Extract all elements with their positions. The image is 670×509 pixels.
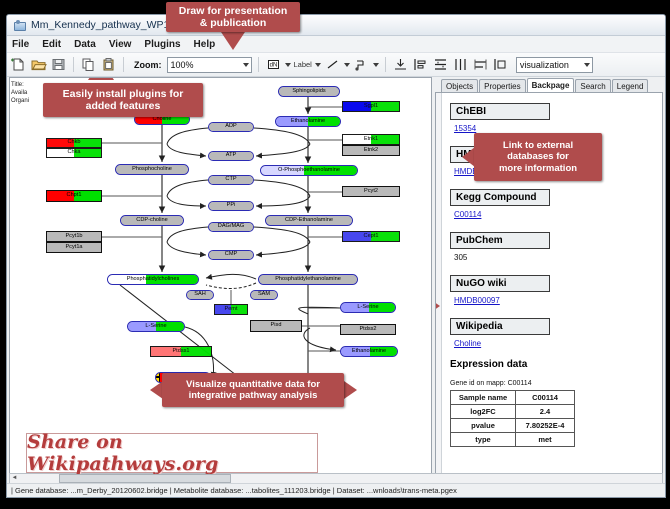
backpage-content: ChEBI 15354 HMDB HMDB00097 Kegg Compound… xyxy=(435,92,663,475)
node-label: CMP xyxy=(225,252,237,258)
menu-data[interactable]: Data xyxy=(72,38,98,51)
node-label: Chkb xyxy=(67,140,80,146)
menubar: File Edit Data View Plugins Help xyxy=(7,36,665,53)
paste-icon[interactable] xyxy=(100,56,117,73)
pathway-node-atp[interactable]: ATP xyxy=(208,151,254,161)
db-header-nugo: NuGO wiki xyxy=(450,275,550,292)
pathway-node-l-serine-left[interactable]: L-Serine xyxy=(127,321,185,332)
node-label: CTP xyxy=(225,177,236,183)
node-label: Pcyt2 xyxy=(364,189,378,195)
table-row: type met xyxy=(451,433,575,447)
pathway-node-pemt[interactable]: Pemt xyxy=(214,304,248,315)
new-file-icon[interactable] xyxy=(10,56,27,73)
node-label: CDP-Ethanolamine xyxy=(285,218,333,224)
expression-table: Sample name C00114 log2FC 2.4 pvalue 7.8… xyxy=(450,390,575,447)
anchor-icon[interactable] xyxy=(353,56,370,73)
callout-plugins-text: Easily install plugins for added feature… xyxy=(63,88,184,113)
pathway-canvas[interactable]: Title: Availa Organi xyxy=(9,77,432,475)
share-banner: Share on Wikipathways.org xyxy=(26,433,318,473)
pathway-node-phosphatidylcholines[interactable]: Phosphatidylcholines xyxy=(107,274,199,285)
open-folder-icon[interactable] xyxy=(30,56,47,73)
node-label: O-Phosphoethanolamine xyxy=(278,168,340,174)
pathway-node-l-serine-right[interactable]: L-Serine xyxy=(340,302,396,313)
callout-external-links: Link to external databases for more info… xyxy=(474,133,602,181)
db-link-chebi[interactable]: 15354 xyxy=(454,124,662,133)
zoom-label: Zoom: xyxy=(134,60,162,70)
line-dropdown-icon[interactable] xyxy=(344,63,350,67)
node-label: L-Serine xyxy=(357,305,378,311)
line-icon[interactable] xyxy=(324,56,341,73)
pathway-node-ptdss1[interactable]: Ptdss1 xyxy=(150,346,212,357)
toolbar-separator-1 xyxy=(73,57,74,72)
toolbar-separator-4 xyxy=(385,57,386,72)
pathway-node-cept1[interactable]: Cept1 xyxy=(342,231,400,242)
node-label: DAG/MAG xyxy=(218,224,244,230)
expr-val-pvalue: 7.80252E-4 xyxy=(516,419,575,433)
table-row: log2FC 2.4 xyxy=(451,405,575,419)
pathway-node-o-phosphoethanolamine[interactable]: O-Phosphoethanolamine xyxy=(260,165,358,176)
expr-val-type: met xyxy=(516,433,575,447)
node-label: Pisd xyxy=(271,323,282,329)
callout-draw: Draw for presentation & publication xyxy=(166,2,300,32)
toolbar-separator-3 xyxy=(258,57,259,72)
pathway-node-adp[interactable]: ADP xyxy=(208,122,254,132)
pathway-node-ptdss2[interactable]: Ptdss2 xyxy=(340,324,396,335)
node-label: Pemt xyxy=(224,307,237,313)
expr-key-type: type xyxy=(451,433,516,447)
node-label: ADP xyxy=(225,124,237,130)
align-bottom-icon[interactable] xyxy=(392,56,409,73)
panel-left-gutter xyxy=(436,93,442,474)
node-label: Sgpl1 xyxy=(364,104,378,110)
visualization-value: visualization xyxy=(520,60,569,70)
expr-key-log2fc: log2FC xyxy=(451,405,516,419)
node-label: Phosphocholine xyxy=(132,167,172,173)
visualization-combobox[interactable]: visualization xyxy=(516,57,593,73)
pathway-node-pisd[interactable]: Pisd xyxy=(250,320,302,332)
pathway-node-ethanolamine-right[interactable]: Ethanolamine xyxy=(340,346,398,357)
side-panel-tabs: Objects Properties Backpage Search Legen… xyxy=(435,77,663,92)
tab-properties[interactable]: Properties xyxy=(479,79,525,92)
menu-view[interactable]: View xyxy=(107,38,134,51)
pathway-node-etnk2[interactable]: Etnk2 xyxy=(342,145,400,156)
stack-icon[interactable] xyxy=(492,56,509,73)
db-header-chebi: ChEBI xyxy=(450,103,550,120)
node-label: Chpt1 xyxy=(67,193,82,199)
pathway-node-etnk1[interactable]: Etnk1 xyxy=(342,134,400,145)
table-row: pvalue 7.80252E-4 xyxy=(451,419,575,433)
menu-edit[interactable]: Edit xyxy=(40,38,63,51)
pathvisio-window: Mm_Kennedy_pathway_WP1771_45176.gpml Fil… xyxy=(6,14,666,498)
pathway-node-ppi[interactable]: PPi xyxy=(208,201,254,211)
pathway-node-sgpl1[interactable]: Sgpl1 xyxy=(342,101,400,112)
db-link-kegg[interactable]: C00114 xyxy=(454,210,662,219)
node-label: Pcyt1a xyxy=(65,245,82,251)
callout-draw-arrow xyxy=(221,32,245,50)
node-label: SAM xyxy=(258,292,270,298)
workarea: Title: Availa Organi xyxy=(7,75,665,475)
expr-val-sample-name: C00114 xyxy=(516,391,575,405)
node-label: Cept1 xyxy=(364,234,379,240)
node-label: PPi xyxy=(227,203,236,209)
pathway-node-cdp-ethanolamine[interactable]: CDP-Ethanolamine xyxy=(265,215,353,226)
callout-external-links-text: Link to external databases for more info… xyxy=(499,140,577,174)
node-label: Sphingolipids xyxy=(292,89,325,95)
db-link-wikipedia[interactable]: Choline xyxy=(454,339,662,348)
data-node-icon[interactable]: dN xyxy=(265,56,282,73)
table-row: Sample name C00114 xyxy=(451,391,575,405)
menu-help[interactable]: Help xyxy=(192,38,218,51)
expr-val-log2fc: 2.4 xyxy=(516,405,575,419)
tab-search[interactable]: Search xyxy=(575,79,610,92)
pathway-node-chka[interactable]: Chka xyxy=(46,148,102,158)
zoom-combobox[interactable]: 100% xyxy=(167,57,252,73)
label-dropdown-icon[interactable] xyxy=(315,63,321,67)
hscroll-thumb[interactable] xyxy=(59,474,231,483)
statusbar-text: | Gene database: ...m_Derby_20120602.bri… xyxy=(11,486,457,495)
pathvisio-app-icon xyxy=(13,19,26,32)
main-toolbar: Zoom: 100% dN Label visua xyxy=(7,53,665,77)
node-label: ATP xyxy=(226,153,236,159)
copy-icon[interactable] xyxy=(80,56,97,73)
callout-expression-arrow xyxy=(435,299,440,313)
distribute-horizontal-icon[interactable] xyxy=(452,56,469,73)
callout-visualize-text: Visualize quantitative data for integrat… xyxy=(186,379,320,401)
distribute-vertical-icon[interactable] xyxy=(432,56,449,73)
node-label: Pcyt1b xyxy=(65,234,82,240)
pathway-node-sphingolipids[interactable]: Sphingolipids xyxy=(278,86,340,97)
callout-plugins: Easily install plugins for added feature… xyxy=(43,83,203,117)
node-label: Ptdss1 xyxy=(172,349,189,355)
expr-key-sample-name: Sample name xyxy=(451,391,516,405)
node-label: Ethanolamine xyxy=(352,349,386,355)
db-value-pubchem: 305 xyxy=(454,253,662,262)
db-header-wikipedia: Wikipedia xyxy=(450,318,550,335)
screenshot-root: Mm_Kennedy_pathway_WP1771_45176.gpml Fil… xyxy=(0,0,670,509)
callout-draw-text: Draw for presentation & publication xyxy=(179,5,288,30)
pathway-node-pcyt1a[interactable]: Pcyt1a xyxy=(46,242,102,253)
share-banner-text: Share on Wikipathways.org xyxy=(27,431,317,475)
node-label: Chka xyxy=(67,150,80,156)
save-icon[interactable] xyxy=(50,56,67,73)
pathway-node-chpt1[interactable]: Chpt1 xyxy=(46,190,102,202)
expr-key-pvalue: pvalue xyxy=(451,419,516,433)
chevron-down-icon xyxy=(584,63,590,67)
tab-backpage[interactable]: Backpage xyxy=(527,78,575,92)
data-node-dropdown-icon[interactable] xyxy=(285,63,291,67)
node-label: L-Serine xyxy=(145,324,166,330)
toolbar-separator-2 xyxy=(123,57,124,72)
anchor-dropdown-icon[interactable] xyxy=(373,63,379,67)
zoom-value: 100% xyxy=(171,60,194,70)
node-label: Etnk2 xyxy=(364,148,378,154)
same-width-icon[interactable] xyxy=(472,56,489,73)
db-link-nugo[interactable]: HMDB00097 xyxy=(454,296,662,305)
menu-file[interactable]: File xyxy=(10,38,31,51)
scroll-left-icon[interactable]: ◄ xyxy=(10,475,19,482)
node-label: SAH xyxy=(194,292,206,298)
node-label: Ptdss2 xyxy=(359,327,376,333)
pathway-node-cmp[interactable]: CMP xyxy=(208,250,254,260)
pathway-node-phosphatidylethanolamine[interactable]: Phosphatidylethanolamine xyxy=(258,274,358,285)
db-header-pubchem: PubChem xyxy=(450,232,550,249)
pathway-node-sah[interactable]: SAH xyxy=(186,290,214,300)
window-titlebar: Mm_Kennedy_pathway_WP1771_45176.gpml xyxy=(7,15,665,36)
chevron-down-icon xyxy=(243,63,249,67)
pathway-node-phosphocholine[interactable]: Phosphocholine xyxy=(115,164,189,175)
align-left-icon[interactable] xyxy=(412,56,429,73)
pathway-node-sam[interactable]: SAM xyxy=(250,290,278,300)
pathway-node-cdp-choline[interactable]: CDP-choline xyxy=(120,215,184,226)
pathway-node-chkb[interactable]: Chkb xyxy=(46,138,102,148)
pathway-node-pcyt1b[interactable]: Pcyt1b xyxy=(46,231,102,242)
pathway-node-pcyt2[interactable]: Pcyt2 xyxy=(342,186,400,197)
node-label: Phosphatidylcholines xyxy=(127,277,180,283)
node-label: CDP-choline xyxy=(136,218,167,224)
tab-legend[interactable]: Legend xyxy=(612,79,649,92)
expression-data-heading: Expression data xyxy=(450,359,662,370)
node-label: Etnk1 xyxy=(364,137,378,143)
node-label: Choline xyxy=(153,117,172,123)
side-panel: Objects Properties Backpage Search Legen… xyxy=(435,77,663,475)
callout-visualize: Visualize quantitative data for integrat… xyxy=(162,373,344,407)
db-header-kegg: Kegg Compound xyxy=(450,189,550,206)
tab-objects[interactable]: Objects xyxy=(441,79,478,92)
node-label: Phosphatidylethanolamine xyxy=(275,277,341,283)
pathway-node-ethanolamine-top[interactable]: Ethanolamine xyxy=(275,116,341,127)
menu-plugins[interactable]: Plugins xyxy=(142,38,182,51)
node-label: Ethanolamine xyxy=(291,119,325,125)
gene-id-label: Gene id on mapp: C00114 xyxy=(450,380,662,387)
label-tool-label[interactable]: Label xyxy=(294,60,312,69)
statusbar: | Gene database: ...m_Derby_20120602.bri… xyxy=(7,483,665,497)
pathway-node-ctp[interactable]: CTP xyxy=(208,175,254,185)
svg-text:dN: dN xyxy=(269,63,277,69)
callout-plugins-arrow xyxy=(88,77,114,80)
callout-visualize-arrow-right xyxy=(344,381,357,399)
pathway-node-dagmag[interactable]: DAG/MAG xyxy=(208,222,254,232)
